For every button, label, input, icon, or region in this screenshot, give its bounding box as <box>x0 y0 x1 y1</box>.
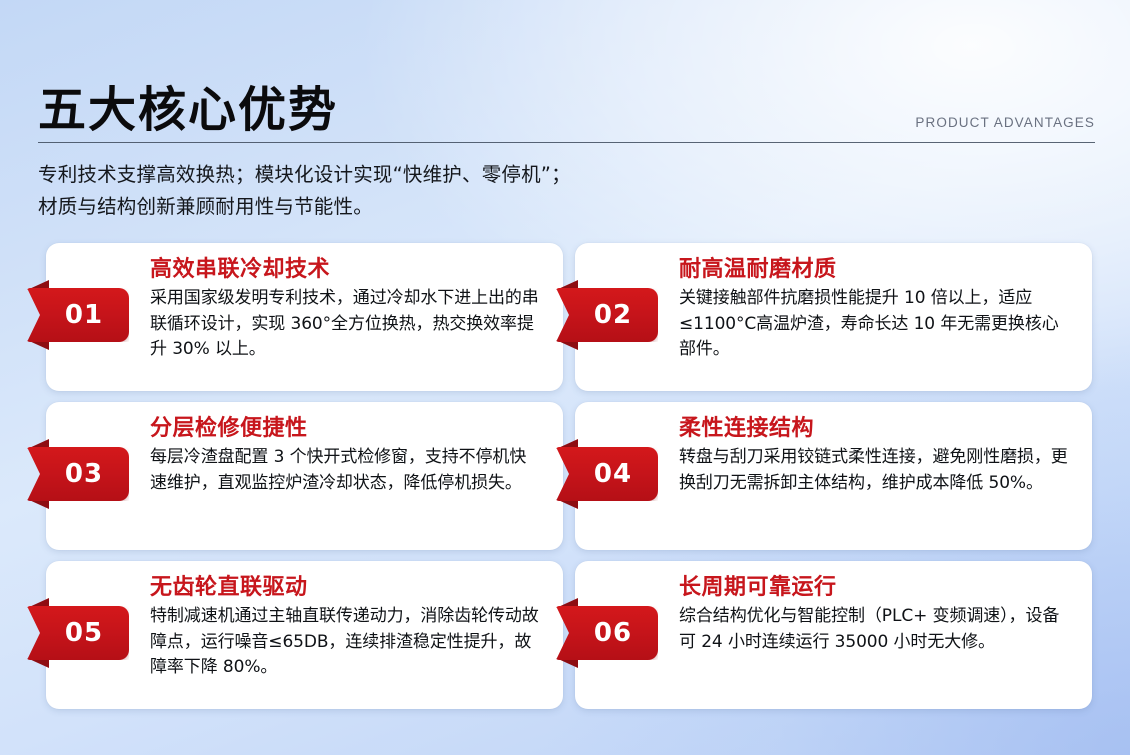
card-title: 耐高温耐磨材质 <box>679 257 1072 282</box>
card-title: 无齿轮直联驱动 <box>150 575 543 600</box>
ribbon-shape-icon: 03 <box>27 447 129 501</box>
card-title: 长周期可靠运行 <box>679 575 1072 600</box>
subtitle-line-2: 材质与结构创新兼顾耐用性与节能性。 <box>38 191 1095 223</box>
advantage-card[interactable]: 06 长周期可靠运行 综合结构优化与智能控制（PLC+ 变频调速），设备可 24… <box>575 561 1092 709</box>
card-description: 关键接触部件抗磨损性能提升 10 倍以上，适应≤1100°C高温炉渣，寿命长达 … <box>679 286 1072 363</box>
ribbon-shape-icon: 04 <box>556 447 658 501</box>
card-title: 高效串联冷却技术 <box>150 257 543 282</box>
card-description: 特制减速机通过主轴直联传递动力，消除齿轮传动故障点，运行噪音≤65DB，连续排渣… <box>150 604 543 681</box>
number-badge: 02 <box>556 288 658 342</box>
slide-subtitle: 专利技术支撑高效换热；模块化设计实现“快维护、零停机”； 材质与结构创新兼顾耐用… <box>38 159 1095 222</box>
advantage-card[interactable]: 05 无齿轮直联驱动 特制减速机通过主轴直联传递动力，消除齿轮传动故障点，运行噪… <box>46 561 563 709</box>
card-description: 采用国家级发明专利技术，通过冷却水下进上出的串联循环设计，实现 360°全方位换… <box>150 286 543 363</box>
ribbon-shape-icon: 01 <box>27 288 129 342</box>
badge-number: 01 <box>53 302 103 328</box>
advantage-card[interactable]: 01 高效串联冷却技术 采用国家级发明专利技术，通过冷却水下进上出的串联循环设计… <box>46 243 563 391</box>
card-title: 分层检修便捷性 <box>150 416 543 441</box>
card-description: 转盘与刮刀采用铰链式柔性连接，避免刚性磨损，更换刮刀无需拆卸主体结构，维护成本降… <box>679 445 1072 496</box>
advantage-card[interactable]: 02 耐高温耐磨材质 关键接触部件抗磨损性能提升 10 倍以上，适应≤1100°… <box>575 243 1092 391</box>
title-divider <box>38 142 1095 143</box>
card-description: 综合结构优化与智能控制（PLC+ 变频调速），设备可 24 小时连续运行 350… <box>679 604 1072 655</box>
ribbon-shape-icon: 02 <box>556 288 658 342</box>
title-row: 五大核心优势 PRODUCT ADVANTAGES <box>38 62 1095 134</box>
badge-number: 06 <box>582 620 632 646</box>
number-badge: 05 <box>27 606 129 660</box>
page-title-english: PRODUCT ADVANTAGES <box>915 115 1095 134</box>
number-badge: 04 <box>556 447 658 501</box>
ribbon-shape-icon: 06 <box>556 606 658 660</box>
number-badge: 06 <box>556 606 658 660</box>
advantage-card[interactable]: 03 分层检修便捷性 每层冷渣盘配置 3 个快开式检修窗，支持不停机快速维护，直… <box>46 402 563 550</box>
badge-number: 03 <box>53 461 103 487</box>
ribbon-shape-icon: 05 <box>27 606 129 660</box>
advantages-slide: 五大核心优势 PRODUCT ADVANTAGES 专利技术支撑高效换热；模块化… <box>0 0 1130 755</box>
advantage-card[interactable]: 04 柔性连接结构 转盘与刮刀采用铰链式柔性连接，避免刚性磨损，更换刮刀无需拆卸… <box>575 402 1092 550</box>
card-title: 柔性连接结构 <box>679 416 1072 441</box>
advantage-card-grid: 01 高效串联冷却技术 采用国家级发明专利技术，通过冷却水下进上出的串联循环设计… <box>46 243 1092 709</box>
subtitle-line-1: 专利技术支撑高效换热；模块化设计实现“快维护、零停机”； <box>38 159 1095 191</box>
card-description: 每层冷渣盘配置 3 个快开式检修窗，支持不停机快速维护，直观监控炉渣冷却状态，降… <box>150 445 543 496</box>
page-title: 五大核心优势 <box>38 86 338 134</box>
number-badge: 03 <box>27 447 129 501</box>
number-badge: 01 <box>27 288 129 342</box>
badge-number: 02 <box>582 302 632 328</box>
slide-header: 五大核心优势 PRODUCT ADVANTAGES 专利技术支撑高效换热；模块化… <box>38 62 1095 222</box>
badge-number: 04 <box>582 461 632 487</box>
badge-number: 05 <box>53 620 103 646</box>
